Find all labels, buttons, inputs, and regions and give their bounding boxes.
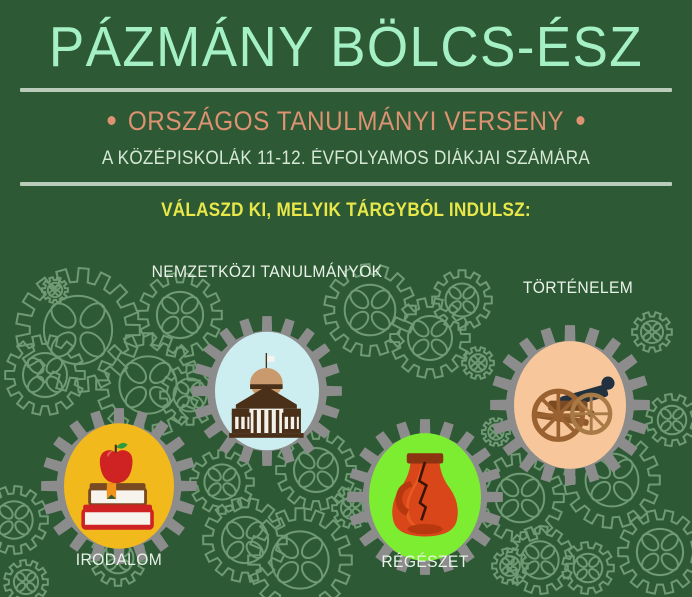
decorative-gear-spoke: [146, 359, 174, 387]
decorative-gear-spoke: [296, 469, 317, 490]
decorative-gear-spoke: [477, 362, 486, 371]
decorative-gear-outline: [390, 298, 470, 377]
decorative-gear-spoke: [224, 519, 247, 542]
decorative-gear-spoke: [15, 581, 27, 593]
decorative-gear-spoke: [76, 299, 109, 332]
decorative-gear-spoke: [206, 481, 223, 498]
decorative-gear-spoke: [159, 313, 182, 336]
subject-gear-graphic-irodalom[interactable]: [38, 405, 200, 567]
decorative-gear-spoke: [55, 290, 62, 297]
decorative-gear-spoke: [658, 531, 681, 554]
decorative-gear-spoke: [470, 362, 479, 371]
decorative-gear-hub: [658, 406, 687, 435]
decorative-gear-spoke: [477, 355, 486, 364]
decorative-gear-outline: [646, 394, 692, 446]
decorative-gear-spoke: [76, 328, 109, 361]
decorative-gear-spoke: [659, 407, 673, 421]
decorative-gear-hub: [0, 501, 33, 538]
decorative-gear-outline: [16, 268, 139, 392]
decorative-gear-spoke: [368, 308, 393, 333]
decorative-gear-spoke: [47, 299, 80, 332]
decorative-gear-spoke: [0, 519, 15, 537]
decorative-gear-outline: [5, 335, 85, 414]
decorative-gear-hub: [14, 570, 38, 594]
decorative-gear-spoke: [659, 419, 673, 433]
decorative-gear-spoke: [470, 355, 479, 364]
audience-line: A KÖZÉPISKOLÁK 11-12. ÉVFOLYAMOS DIÁKJAI…: [35, 140, 658, 172]
decorative-gear-spoke: [47, 328, 80, 361]
decorative-gear-spoke: [243, 519, 266, 542]
decorative-gear-spoke: [0, 503, 15, 521]
subtitle-text: ORSZÁGOS TANULMÁNYI VERSENY: [128, 106, 564, 136]
decorative-gear-hub: [204, 464, 239, 499]
poster-header: PÁZMÁNY BÖLCS-ÉSZ ORSZÁGOS TANULMÁNYI VE…: [0, 0, 692, 224]
decorative-gear-spoke: [25, 581, 37, 593]
decorative-gear-spoke: [55, 284, 62, 291]
decorative-gear-hub: [408, 316, 452, 360]
decorative-gear-spoke: [15, 571, 27, 583]
decorative-gear-spoke: [13, 503, 31, 521]
decorative-gear-spoke: [447, 299, 463, 315]
bullet-dot-right: [577, 116, 585, 125]
decorative-gear-spoke: [49, 284, 56, 291]
decorative-gear-spoke: [25, 355, 46, 376]
decorative-gear-spoke: [429, 337, 450, 358]
decorative-gear-spoke: [122, 359, 150, 387]
decorative-gear-spoke: [671, 407, 685, 421]
decorative-gear-spoke: [639, 531, 662, 554]
decorative-gear-spoke: [159, 294, 182, 317]
call-to-action: VÁLASZD KI, MELYIK TÁRGYBÓL INDULSZ:: [35, 186, 658, 224]
decorative-gear-hub: [48, 283, 62, 297]
subject-gear-graphic-nemzetkozi-tanulmanyok[interactable]: [189, 313, 345, 469]
decorative-gear-spoke: [347, 308, 372, 333]
decorative-gear-spoke: [429, 318, 450, 339]
subject-label-tortenelem[interactable]: TÖRTÉNELEM: [260, 278, 692, 298]
decorative-gear-spoke: [44, 355, 65, 376]
poster-root: PÁZMÁNY BÖLCS-ÉSZ ORSZÁGOS TANULMÁNYI VE…: [0, 0, 692, 597]
page-title: PÁZMÁNY BÖLCS-ÉSZ: [24, 0, 668, 82]
decorative-gear-spoke: [410, 318, 431, 339]
decorative-gear-spoke: [221, 481, 238, 498]
decorative-gear-spoke: [25, 571, 37, 583]
subject-gear-graphic-tortenelem[interactable]: [487, 322, 653, 488]
bullet-dot-left: [107, 116, 115, 125]
decorative-gear-spoke: [44, 374, 65, 395]
decorative-gear-spoke: [315, 469, 336, 490]
decorative-gear-hub: [23, 353, 67, 397]
decorative-gear-spoke: [518, 496, 542, 520]
decorative-gear-spoke: [671, 419, 685, 433]
decorative-gear-hub: [44, 296, 112, 364]
decorative-gear-spoke: [13, 519, 31, 537]
subtitle-competition: ORSZÁGOS TANULMÁNYI VERSENY: [35, 92, 658, 140]
decorative-gear-spoke: [410, 337, 431, 358]
decorative-gear-spoke: [25, 374, 46, 395]
decorative-gear-spoke: [49, 290, 56, 297]
subject-label-regeszet[interactable]: RÉGÉSZET: [107, 552, 692, 572]
decorative-gear-hub: [469, 354, 487, 372]
decorative-gear-spoke: [461, 299, 477, 315]
